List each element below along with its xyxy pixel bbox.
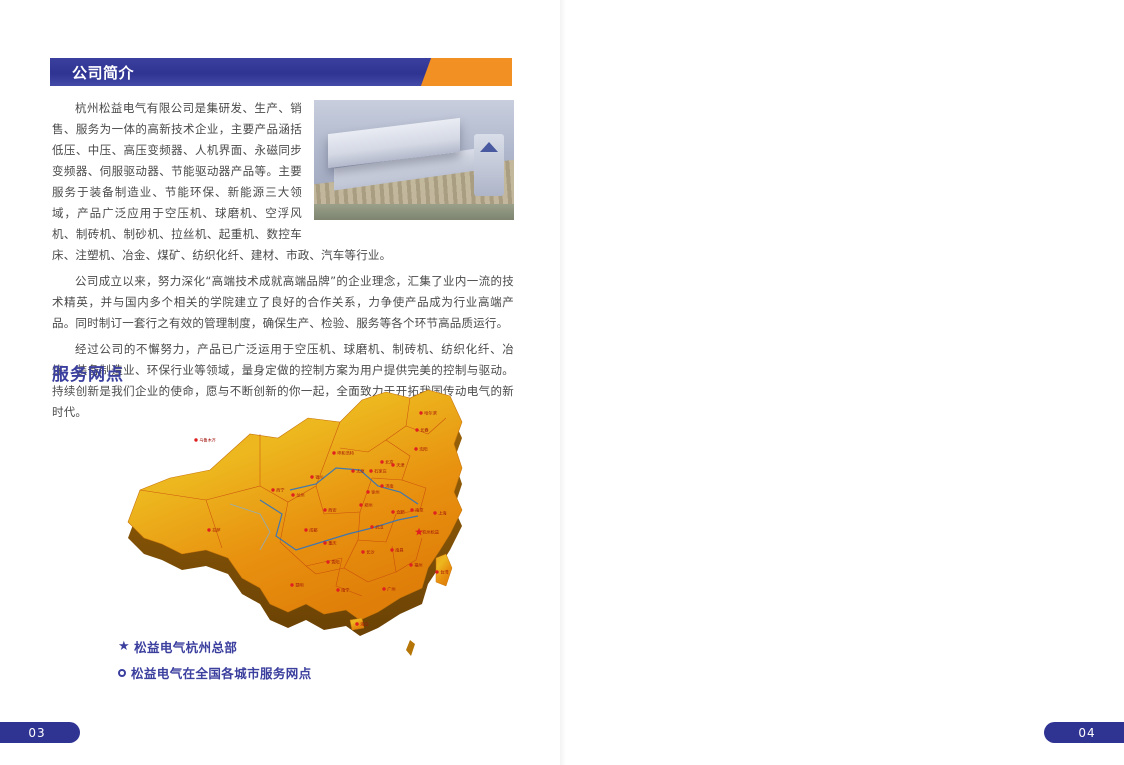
map-marker-city [323, 508, 326, 511]
map-city-label: 广州 [387, 586, 395, 593]
map-marker-city [310, 475, 313, 478]
map-marker-city [207, 528, 210, 531]
map-city-label: 徐州 [371, 489, 379, 496]
star-icon: ★ [118, 639, 130, 654]
map-city-label: 上海 [438, 510, 447, 517]
map-city-label: 南京 [415, 507, 423, 514]
map-marker-city [391, 463, 394, 466]
map-city-label: 合肥 [396, 509, 405, 516]
map-marker-city [332, 451, 335, 454]
map-city-label: 海口 [360, 621, 368, 628]
map-city-label: 太原 [356, 468, 364, 475]
map-city-label: 台湾 [440, 569, 448, 576]
left-page: 公司简介 杭州松益电气有限公司是集研发、生产、销售、服务为一体的高新技术企业，主… [0, 0, 562, 765]
map-marker-city [366, 490, 369, 493]
map-marker-city [391, 510, 394, 513]
map-marker-city [435, 570, 438, 573]
map-south-sea-islands [406, 640, 415, 656]
map-legend: ★ 松益电气杭州总部 松益电气在全国各城市服务网点 [118, 637, 312, 689]
map-city-label: 贵阳 [331, 559, 339, 566]
legend-item-branches: 松益电气在全国各城市服务网点 [118, 663, 312, 682]
map-city-label: 呼和浩特 [337, 450, 354, 457]
intro-paragraph-2: 公司成立以来，努力深化“高端技术成就高端品牌”的企业理念，汇集了业内一流的技术精… [52, 271, 514, 334]
map-marker-city [355, 622, 358, 625]
map-marker-city [390, 548, 393, 551]
right-page: 产品优势——高可靠性 宽电压范围设计 额定电压：单相220V；三相220V/38… [562, 0, 1124, 765]
map-city-label: 沈阳 [419, 446, 427, 453]
legend-hq-label: 松益电气杭州总部 [134, 637, 237, 656]
map-city-label: 长沙 [366, 549, 375, 556]
map-city-label: 成都 [309, 527, 318, 534]
map-city-label: 哈尔滨 [424, 410, 437, 417]
map-city-label: 郑州 [364, 502, 372, 509]
page-number-left: 03 [0, 722, 80, 743]
map-city-label: 西宁 [276, 487, 284, 494]
map-marker-city [194, 438, 197, 441]
map-city-label: 乌鲁木齐 [199, 437, 217, 444]
map-marker-city [415, 428, 418, 431]
map-marker-city [433, 511, 436, 514]
left-banner-bar: 公司简介 [50, 58, 422, 86]
map-city-label: 武汉 [375, 524, 384, 531]
map-marker-city [380, 460, 383, 463]
map-city-label: 重庆 [328, 540, 337, 547]
text-wrap-spacer [314, 100, 514, 220]
map-marker-city [271, 488, 274, 491]
map-city-label: 西安 [328, 507, 336, 514]
map-marker-city [351, 469, 354, 472]
legend-item-hq: ★ 松益电气杭州总部 [118, 637, 312, 656]
map-city-label: 银川 [315, 474, 323, 481]
map-marker-city [369, 469, 372, 472]
map-marker-city [414, 447, 417, 450]
page-number-right: 04 [1044, 722, 1124, 743]
left-section-banner: 公司简介 [50, 58, 512, 86]
map-city-label: 石家庄 [374, 468, 387, 475]
map-marker-city [304, 528, 307, 531]
map-marker-city [409, 563, 412, 566]
map-city-label: 南宁 [341, 587, 349, 593]
map-marker-city [382, 587, 385, 590]
map-marker-city [323, 541, 326, 544]
brochure-spread: 公司简介 杭州松益电气有限公司是集研发、生产、销售、服务为一体的高新技术企业，主… [0, 0, 1124, 765]
map-marker-city [290, 583, 293, 586]
map-marker-city [380, 484, 383, 487]
map-marker-city [336, 588, 339, 591]
page-number-right-text: 04 [1078, 726, 1095, 740]
map-city-label: 杭州松益 [422, 529, 439, 536]
left-banner-orange-accent [440, 58, 512, 86]
map-marker-city [291, 493, 294, 496]
map-city-label: 天津 [396, 462, 404, 469]
legend-branch-label: 松益电气在全国各城市服务网点 [131, 663, 312, 682]
left-banner-title: 公司简介 [72, 62, 134, 83]
page-number-left-text: 03 [28, 726, 45, 740]
map-marker-city [359, 503, 362, 506]
map-marker-city [419, 411, 422, 414]
map-city-label: 南昌 [395, 547, 403, 554]
circle-dot-icon [118, 669, 126, 677]
map-marker-city [326, 560, 329, 563]
map-marker-city [361, 550, 364, 553]
map-city-label: 长春 [420, 427, 429, 434]
map-city-label: 福州 [414, 562, 422, 569]
map-city-label: 兰州 [296, 492, 304, 498]
map-city-label: 拉萨 [212, 527, 220, 534]
map-city-label: 济南 [385, 483, 393, 490]
map-marker-city [410, 508, 413, 511]
map-marker-city [370, 525, 373, 528]
